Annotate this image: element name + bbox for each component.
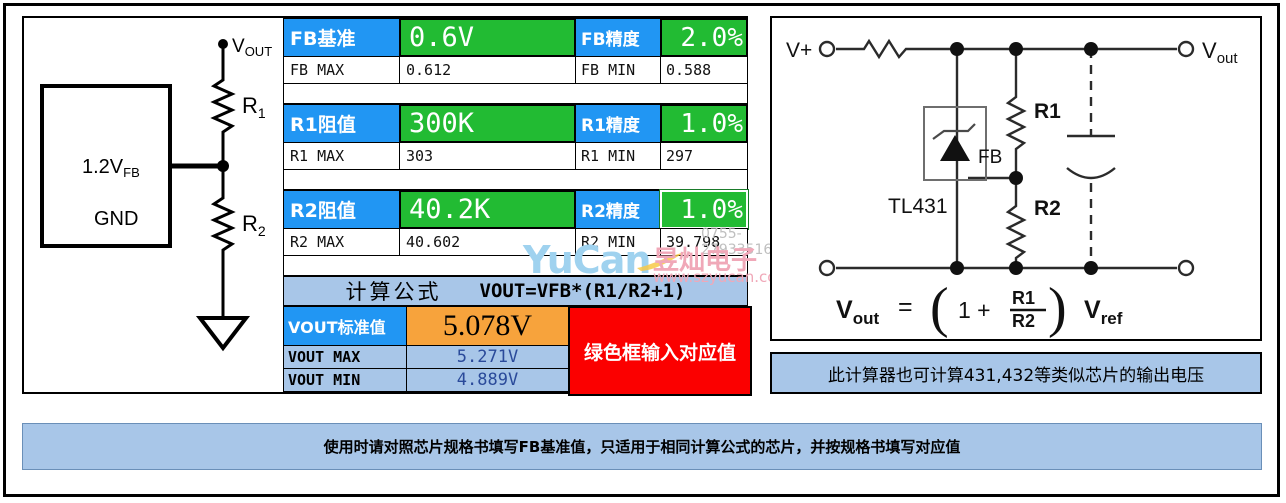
fb-label: FB [978,147,1002,168]
vout-max-label: VOUT MAX [283,345,407,369]
formula-expression: VOUT=VFB*(R1/R2+1) [480,280,686,302]
r1-max-label: R1 MAX [283,142,400,170]
svg-text:R2: R2 [1012,311,1035,331]
vout-standard-value: 5.078V [406,306,569,346]
svg-text:=: = [898,293,913,321]
vout-min-label: VOUT MIN [283,368,407,392]
r1-accuracy-input[interactable]: 1.0% [660,104,748,143]
svg-text:R1: R1 [242,93,266,121]
svg-text:GND: GND [94,208,138,230]
svg-text:R2: R2 [242,211,266,239]
r2-min-value: 39.798 [660,228,748,256]
fb-reference-label: FB基准 [283,18,400,57]
vout-max-value: 5.271V [406,345,569,369]
fb-accuracy-input[interactable]: 2.0% [660,18,748,57]
tl431-schematic: V+ Vout R1 R2 FB TL431 Vout = ( 1 + R1 R… [772,18,1260,339]
calculator-table: FB基准 0.6V FB精度 2.0% FB MAX 0.612 FB MIN … [283,18,748,392]
vplus-label: V+ [786,39,812,62]
r2-label: R2 [1034,197,1061,220]
r1-min-label: R1 MIN [575,142,661,170]
feedback-divider-schematic: VOUT R1 R2 1.2VFB GND [24,18,282,392]
r2-max-value: 40.602 [399,228,576,256]
r1-resistance-label: R1阻值 [283,104,400,143]
vout-min-value: 4.889V [406,368,569,392]
bottom-banner: 使用时请对照芯片规格书填写FB基准值，只适用于相同计算公式的芯片，并按规格书填写… [22,423,1262,470]
fb-accuracy-label: FB精度 [575,18,661,57]
tl431-label: TL431 [888,195,948,218]
row-spacer-2 [283,169,748,190]
formula-title: 计算公式 [346,276,442,306]
r1-label: R1 [1034,100,1061,123]
row-spacer-1 [283,83,748,104]
r1-max-value: 303 [399,142,576,170]
r2-min-label: R2 MIN [575,228,661,256]
r2-max-label: R2 MAX [283,228,400,256]
row-spacer-3 [283,255,748,276]
svg-text:1 +: 1 + [958,297,991,323]
fb-max-label: FB MAX [283,56,400,84]
right-note: 此计算器也可计算431,432等类似芯片的输出电压 [770,352,1262,394]
r2-resistance-input[interactable]: 40.2K [399,190,576,229]
vout-equation: Vout = ( 1 + R1 R2 ) Vref [836,277,1123,339]
left-panel: VOUT R1 R2 1.2VFB GND FB基准 0.6V FB精度 2.0… [22,16,748,394]
svg-text:Vout: Vout [836,296,879,328]
green-box-hint: 绿色框输入对应值 [568,306,752,396]
r1-min-value: 297 [660,142,748,170]
fb-reference-input[interactable]: 0.6V [399,18,576,57]
svg-text:VOUT: VOUT [232,36,272,59]
r2-accuracy-input[interactable]: 1.0% [660,190,748,229]
svg-text:): ) [1048,277,1067,339]
svg-text:Vref: Vref [1084,296,1123,328]
formula-row: 计算公式 VOUT=VFB*(R1/R2+1) [283,276,748,306]
r1-accuracy-label: R1精度 [575,104,661,143]
vout-terminal-label: Vout [1202,38,1238,67]
vout-standard-label: VOUT标准值 [283,306,407,346]
r2-accuracy-label: R2精度 [575,190,661,229]
fb-min-value: 0.588 [660,56,748,84]
r1-resistance-input[interactable]: 300K [399,104,576,143]
fb-min-label: FB MIN [575,56,661,84]
fb-max-value: 0.612 [399,56,576,84]
svg-text:(: ( [930,277,949,339]
right-panel: V+ Vout R1 R2 FB TL431 Vout = ( 1 + R1 R… [770,16,1262,341]
r2-resistance-label: R2阻值 [283,190,400,229]
calculator-page: VOUT R1 R2 1.2VFB GND FB基准 0.6V FB精度 2.0… [0,0,1286,503]
svg-text:R1: R1 [1012,288,1035,308]
